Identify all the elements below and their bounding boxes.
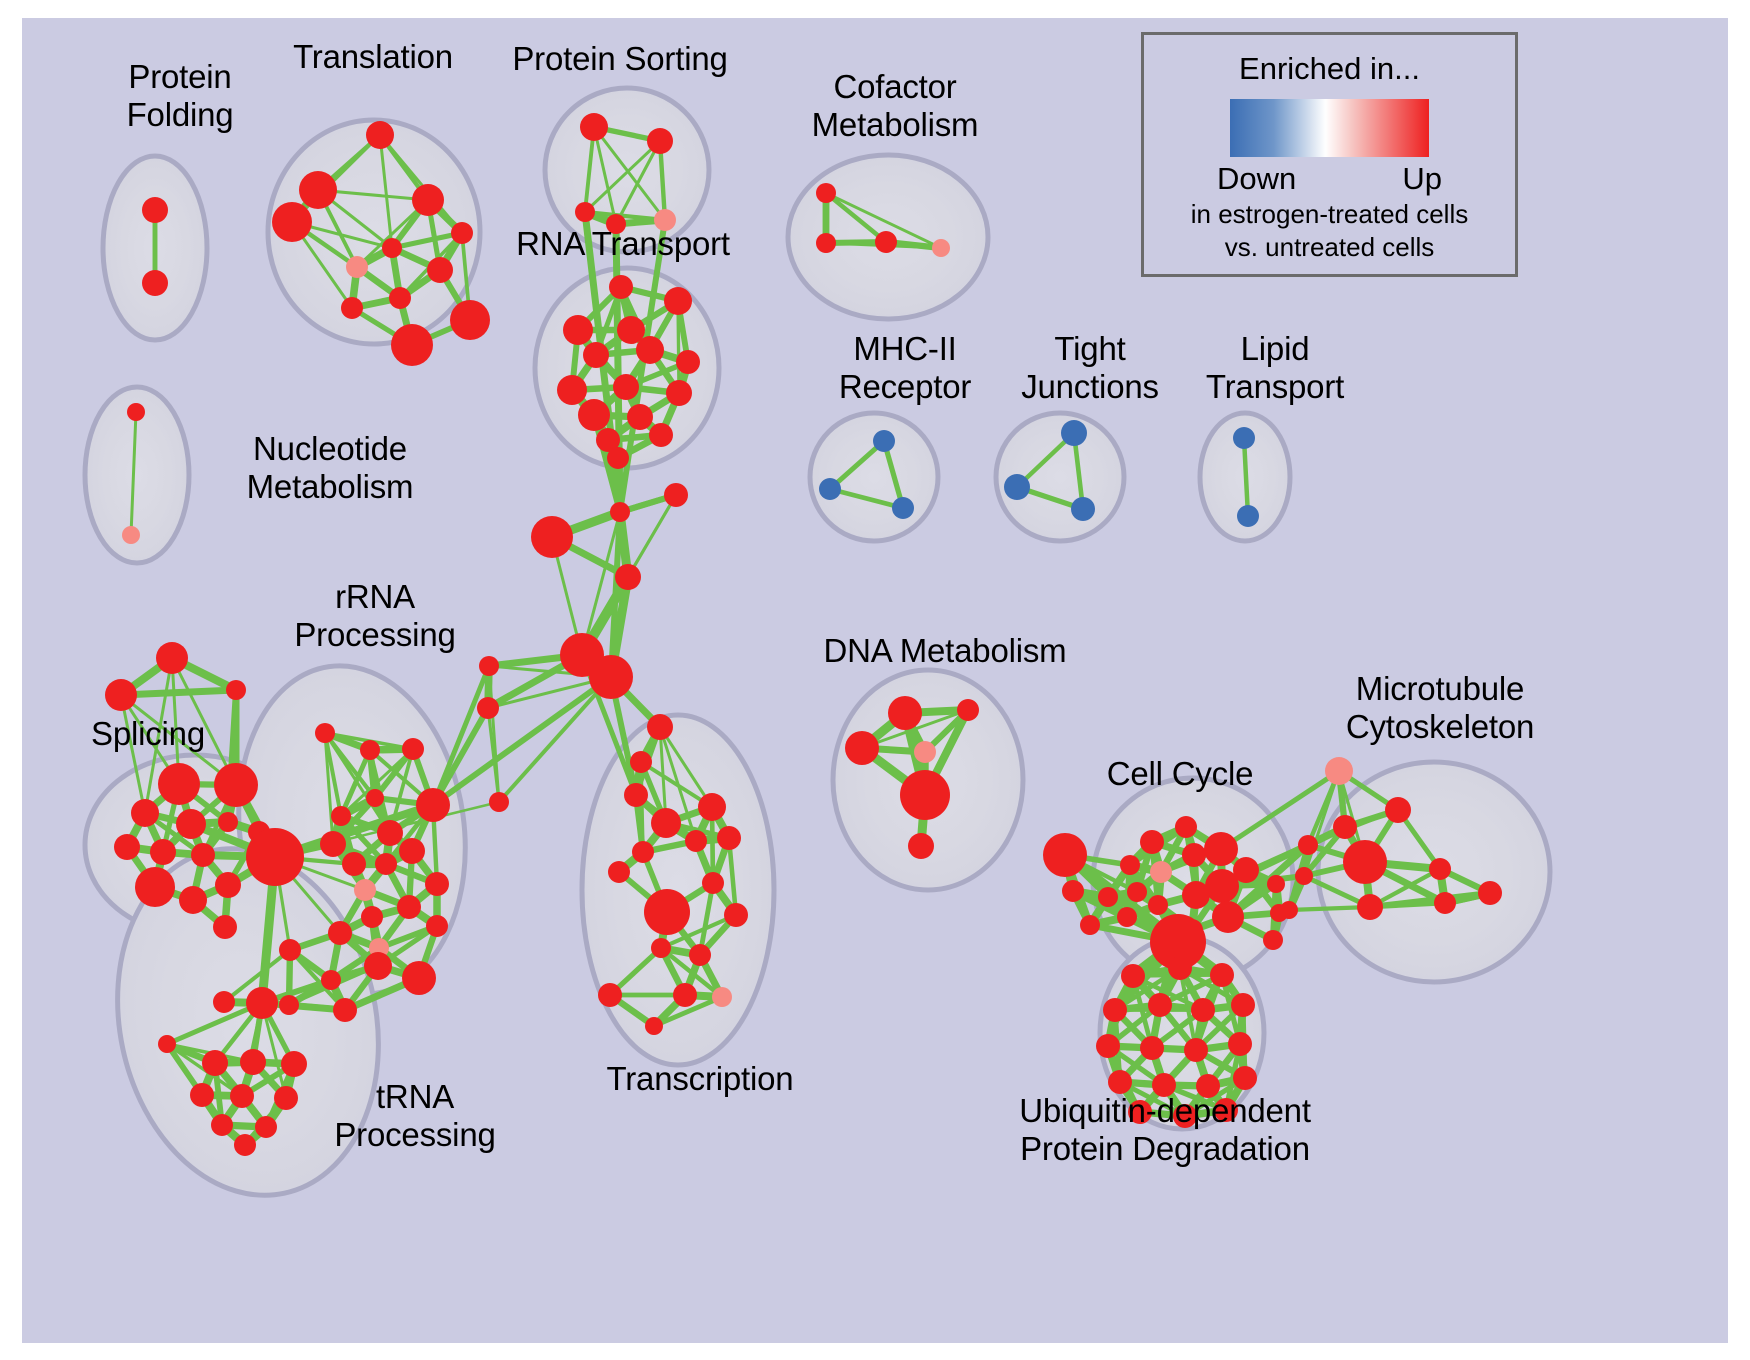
network-node: [664, 483, 688, 507]
network-node: [1233, 427, 1255, 449]
network-node: [214, 763, 258, 807]
network-node: [213, 915, 237, 939]
network-node: [150, 839, 176, 865]
network-node: [1343, 840, 1387, 884]
network-node: [816, 233, 836, 253]
network-node: [1140, 1036, 1164, 1060]
network-node: [234, 1134, 256, 1156]
network-node: [114, 834, 140, 860]
network-node: [156, 642, 188, 674]
network-node: [255, 1116, 277, 1138]
legend-low-label: Down: [1217, 161, 1296, 197]
network-node: [1117, 907, 1137, 927]
cluster-label-splicing: Splicing: [48, 715, 248, 753]
network-node: [333, 998, 357, 1022]
network-node: [1120, 855, 1140, 875]
network-node: [240, 1049, 266, 1075]
network-node: [689, 944, 711, 966]
network-node: [279, 939, 301, 961]
network-node: [645, 1017, 663, 1035]
network-node: [900, 770, 950, 820]
network-node: [226, 680, 246, 700]
network-node: [698, 793, 726, 821]
network-node: [360, 740, 380, 760]
network-node: [1175, 816, 1197, 838]
cluster-label-microtubule-cytoskeleton: Microtubule Cytoskeleton: [1290, 670, 1590, 746]
cluster-bubble-mhc-ii-receptor: [810, 413, 938, 541]
legend-subtitle-line2: vs. untreated cells: [1144, 232, 1515, 263]
network-node: [1434, 892, 1456, 914]
network-node: [122, 526, 140, 544]
network-node: [1280, 901, 1298, 919]
network-node: [127, 403, 145, 421]
network-node: [1004, 474, 1030, 500]
network-node: [1098, 887, 1118, 907]
network-node: [580, 113, 608, 141]
cluster-label-translation: Translation: [248, 38, 498, 76]
network-node: [615, 564, 641, 590]
network-node: [908, 833, 934, 859]
network-node: [589, 655, 633, 699]
network-node: [630, 751, 652, 773]
network-node: [1148, 993, 1172, 1017]
network-node: [702, 872, 724, 894]
network-node: [299, 171, 337, 209]
network-node: [477, 697, 499, 719]
network-node: [647, 128, 673, 154]
network-node: [354, 879, 376, 901]
network-edge: [121, 690, 236, 695]
network-node: [1108, 1070, 1132, 1094]
network-node: [1096, 1034, 1120, 1058]
network-node: [1237, 505, 1259, 527]
network-node: [281, 1051, 307, 1077]
network-node: [816, 183, 836, 203]
network-node: [644, 889, 690, 935]
network-node: [215, 872, 241, 898]
network-node: [412, 184, 444, 216]
network-node: [361, 906, 383, 928]
network-node: [845, 731, 879, 765]
network-node: [1168, 956, 1192, 980]
network-node: [1212, 901, 1244, 933]
network-node: [578, 399, 610, 431]
network-node: [135, 867, 175, 907]
network-node: [610, 502, 630, 522]
network-node: [957, 699, 979, 721]
network-node: [632, 841, 654, 863]
network-node: [647, 714, 673, 740]
network-node: [664, 287, 692, 315]
network-node: [1103, 998, 1127, 1022]
network-node: [191, 843, 215, 867]
network-node: [1148, 895, 1168, 915]
network-node: [179, 886, 207, 914]
network-node: [583, 342, 609, 368]
legend-color-gradient-bar: [1230, 99, 1429, 157]
network-node: [1385, 797, 1411, 823]
network-node: [389, 287, 411, 309]
network-node: [651, 808, 681, 838]
cluster-label-cell-cycle: Cell Cycle: [1065, 755, 1295, 793]
network-node: [1205, 869, 1239, 903]
network-node: [315, 723, 335, 743]
network-node: [1267, 875, 1285, 893]
network-node: [426, 915, 448, 937]
network-node: [105, 679, 137, 711]
network-node: [375, 853, 397, 875]
network-node: [557, 375, 587, 405]
legend-high-label: Up: [1402, 161, 1442, 197]
network-node: [598, 983, 622, 1007]
cluster-label-dna-metabolism: DNA Metabolism: [795, 632, 1095, 670]
network-node: [819, 478, 841, 500]
network-node: [331, 806, 351, 826]
network-node: [1325, 757, 1353, 785]
network-node: [364, 952, 392, 980]
network-node: [1231, 993, 1255, 1017]
network-node: [673, 983, 697, 1007]
network-node: [1061, 420, 1087, 446]
network-node: [218, 812, 238, 832]
network-node: [608, 861, 630, 883]
network-node: [685, 830, 707, 852]
network-node: [131, 799, 159, 827]
figure-canvas: Protein FoldingTranslationProtein Sortin…: [0, 0, 1750, 1360]
network-node: [328, 921, 352, 945]
network-node: [531, 516, 573, 558]
network-node: [1478, 881, 1502, 905]
network-node: [1429, 858, 1451, 880]
network-node: [158, 763, 200, 805]
network-node: [607, 447, 629, 469]
network-node: [479, 656, 499, 676]
network-node: [366, 789, 384, 807]
legend-box: Enriched in... Down Up in estrogen-treat…: [1141, 32, 1518, 277]
cluster-label-ubiquitin-protein-degradation: Ubiquitin-dependent Protein Degradation: [975, 1092, 1355, 1168]
network-node: [1150, 861, 1172, 883]
network-node: [279, 995, 299, 1015]
cluster-label-protein-sorting: Protein Sorting: [480, 40, 760, 78]
network-node: [341, 297, 363, 319]
network-node: [624, 783, 648, 807]
network-node: [563, 315, 593, 345]
network-node: [1204, 832, 1238, 866]
network-node: [575, 202, 595, 222]
network-node: [1043, 833, 1087, 877]
network-node: [451, 222, 473, 244]
network-node: [888, 696, 922, 730]
network-node: [142, 270, 168, 296]
network-node: [176, 809, 206, 839]
network-node: [1233, 1066, 1257, 1090]
network-node: [416, 788, 450, 822]
network-node: [914, 741, 936, 763]
network-node: [391, 324, 433, 366]
cluster-label-transcription: Transcription: [565, 1060, 835, 1098]
network-node: [627, 404, 653, 430]
network-node: [1182, 843, 1206, 867]
network-node: [425, 872, 449, 896]
network-node: [875, 231, 897, 253]
cluster-label-rna-transport: RNA Transport: [478, 225, 768, 263]
network-node: [1298, 835, 1318, 855]
network-node: [142, 197, 168, 223]
network-node: [213, 991, 235, 1013]
network-node: [649, 423, 673, 447]
network-node: [1062, 880, 1084, 902]
network-node: [382, 238, 402, 258]
network-node: [346, 256, 368, 278]
network-node: [609, 275, 633, 299]
network-node: [636, 336, 664, 364]
network-node: [1080, 915, 1100, 935]
network-node: [402, 961, 436, 995]
network-node: [366, 121, 394, 149]
network-node: [1182, 881, 1210, 909]
cluster-label-trna-processing: tRNA Processing: [290, 1078, 540, 1154]
cluster-label-nucleotide-metabolism: Nucleotide Metabolism: [190, 430, 470, 506]
network-node: [1191, 998, 1215, 1022]
network-node: [1071, 497, 1095, 521]
network-node: [320, 831, 346, 857]
network-node: [666, 380, 692, 406]
network-node: [321, 970, 341, 990]
network-node: [873, 430, 895, 452]
network-node: [246, 987, 278, 1019]
network-node: [932, 239, 950, 257]
network-node: [399, 838, 425, 864]
network-node: [1357, 894, 1383, 920]
network-node: [651, 938, 671, 958]
network-node: [377, 820, 403, 846]
network-node: [450, 300, 490, 340]
network-node: [1184, 1038, 1208, 1062]
network-node: [724, 903, 748, 927]
network-node: [717, 826, 741, 850]
network-node: [892, 497, 914, 519]
cluster-label-cofactor-metabolism: Cofactor Metabolism: [760, 68, 1030, 144]
cluster-label-rrna-processing: rRNA Processing: [250, 578, 500, 654]
network-node: [190, 1083, 214, 1107]
network-node: [489, 792, 509, 812]
network-node: [397, 895, 421, 919]
cluster-label-lipid-transport: Lipid Transport: [1160, 330, 1390, 406]
network-node: [1333, 815, 1357, 839]
network-node: [1263, 930, 1283, 950]
cluster-bubble-transcription: [582, 715, 774, 1065]
network-node: [402, 738, 424, 760]
network-node: [202, 1050, 228, 1076]
network-node: [1228, 1032, 1252, 1056]
network-node: [272, 202, 312, 242]
network-node: [342, 852, 366, 876]
network-node: [427, 257, 453, 283]
network-node: [158, 1035, 176, 1053]
network-node: [676, 350, 700, 374]
network-node: [613, 374, 639, 400]
network-node: [230, 1084, 254, 1108]
network-node: [211, 1114, 233, 1136]
network-node: [1121, 964, 1145, 988]
network-node: [1210, 963, 1234, 987]
legend-title: Enriched in...: [1144, 51, 1515, 87]
network-node: [1140, 830, 1164, 854]
network-node: [712, 987, 732, 1007]
legend-subtitle-line1: in estrogen-treated cells: [1144, 199, 1515, 230]
network-node: [1295, 867, 1313, 885]
network-node: [246, 828, 304, 886]
network-node: [1127, 882, 1147, 902]
